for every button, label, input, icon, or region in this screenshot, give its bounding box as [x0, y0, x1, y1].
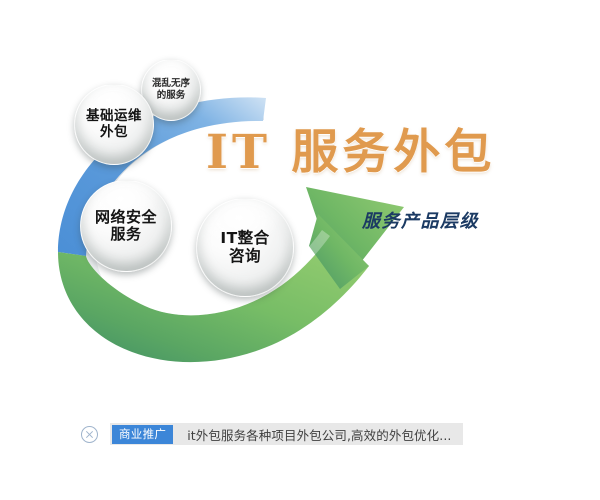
close-circle-icon[interactable]	[81, 426, 98, 443]
bubble-it-integration-consulting: IT整合 咨询	[196, 198, 294, 297]
ad-row: 商业推广 it外包服务各种项目外包公司,高效的外包优化...	[81, 423, 463, 445]
bubble-it-line-1: IT整合	[220, 230, 269, 247]
ad-link-text[interactable]: it外包服务各种项目外包公司,高效的外包优化...	[173, 425, 463, 444]
hero-subtitle: 服务产品层级	[362, 207, 479, 233]
bubble-chaos-line-1: 混乱无序	[152, 78, 190, 90]
ad-bar: 商业推广 it外包服务各种项目外包公司,高效的外包优化...	[0, 400, 600, 500]
ad-content-strip: 商业推广 it外包服务各种项目外包公司,高效的外包优化...	[110, 423, 463, 445]
bubble-basic-line-2: 外包	[100, 125, 128, 140]
bubble-basic-line-1: 基础运维	[86, 109, 142, 124]
bubble-security-line-1: 网络安全	[95, 209, 157, 226]
bubble-basic-ops-outsourcing: 基础运维 外包	[74, 84, 154, 165]
bubble-it-line-2: 咨询	[229, 248, 261, 265]
ad-promo-badge[interactable]: 商业推广	[112, 425, 173, 444]
bubble-chaos-line-2: 的服务	[157, 90, 186, 102]
bubble-network-security-service: 网络安全 服务	[80, 180, 172, 272]
hero-graphic: 混乱无序 的服务 基础运维 外包 网络安全 服务 IT整合 咨询 IT 服务外包…	[0, 0, 600, 400]
page-root: 混乱无序 的服务 基础运维 外包 网络安全 服务 IT整合 咨询 IT 服务外包…	[0, 0, 600, 500]
bubble-security-line-2: 服务	[110, 226, 141, 243]
hero-headline: IT 服务外包	[206, 113, 495, 182]
